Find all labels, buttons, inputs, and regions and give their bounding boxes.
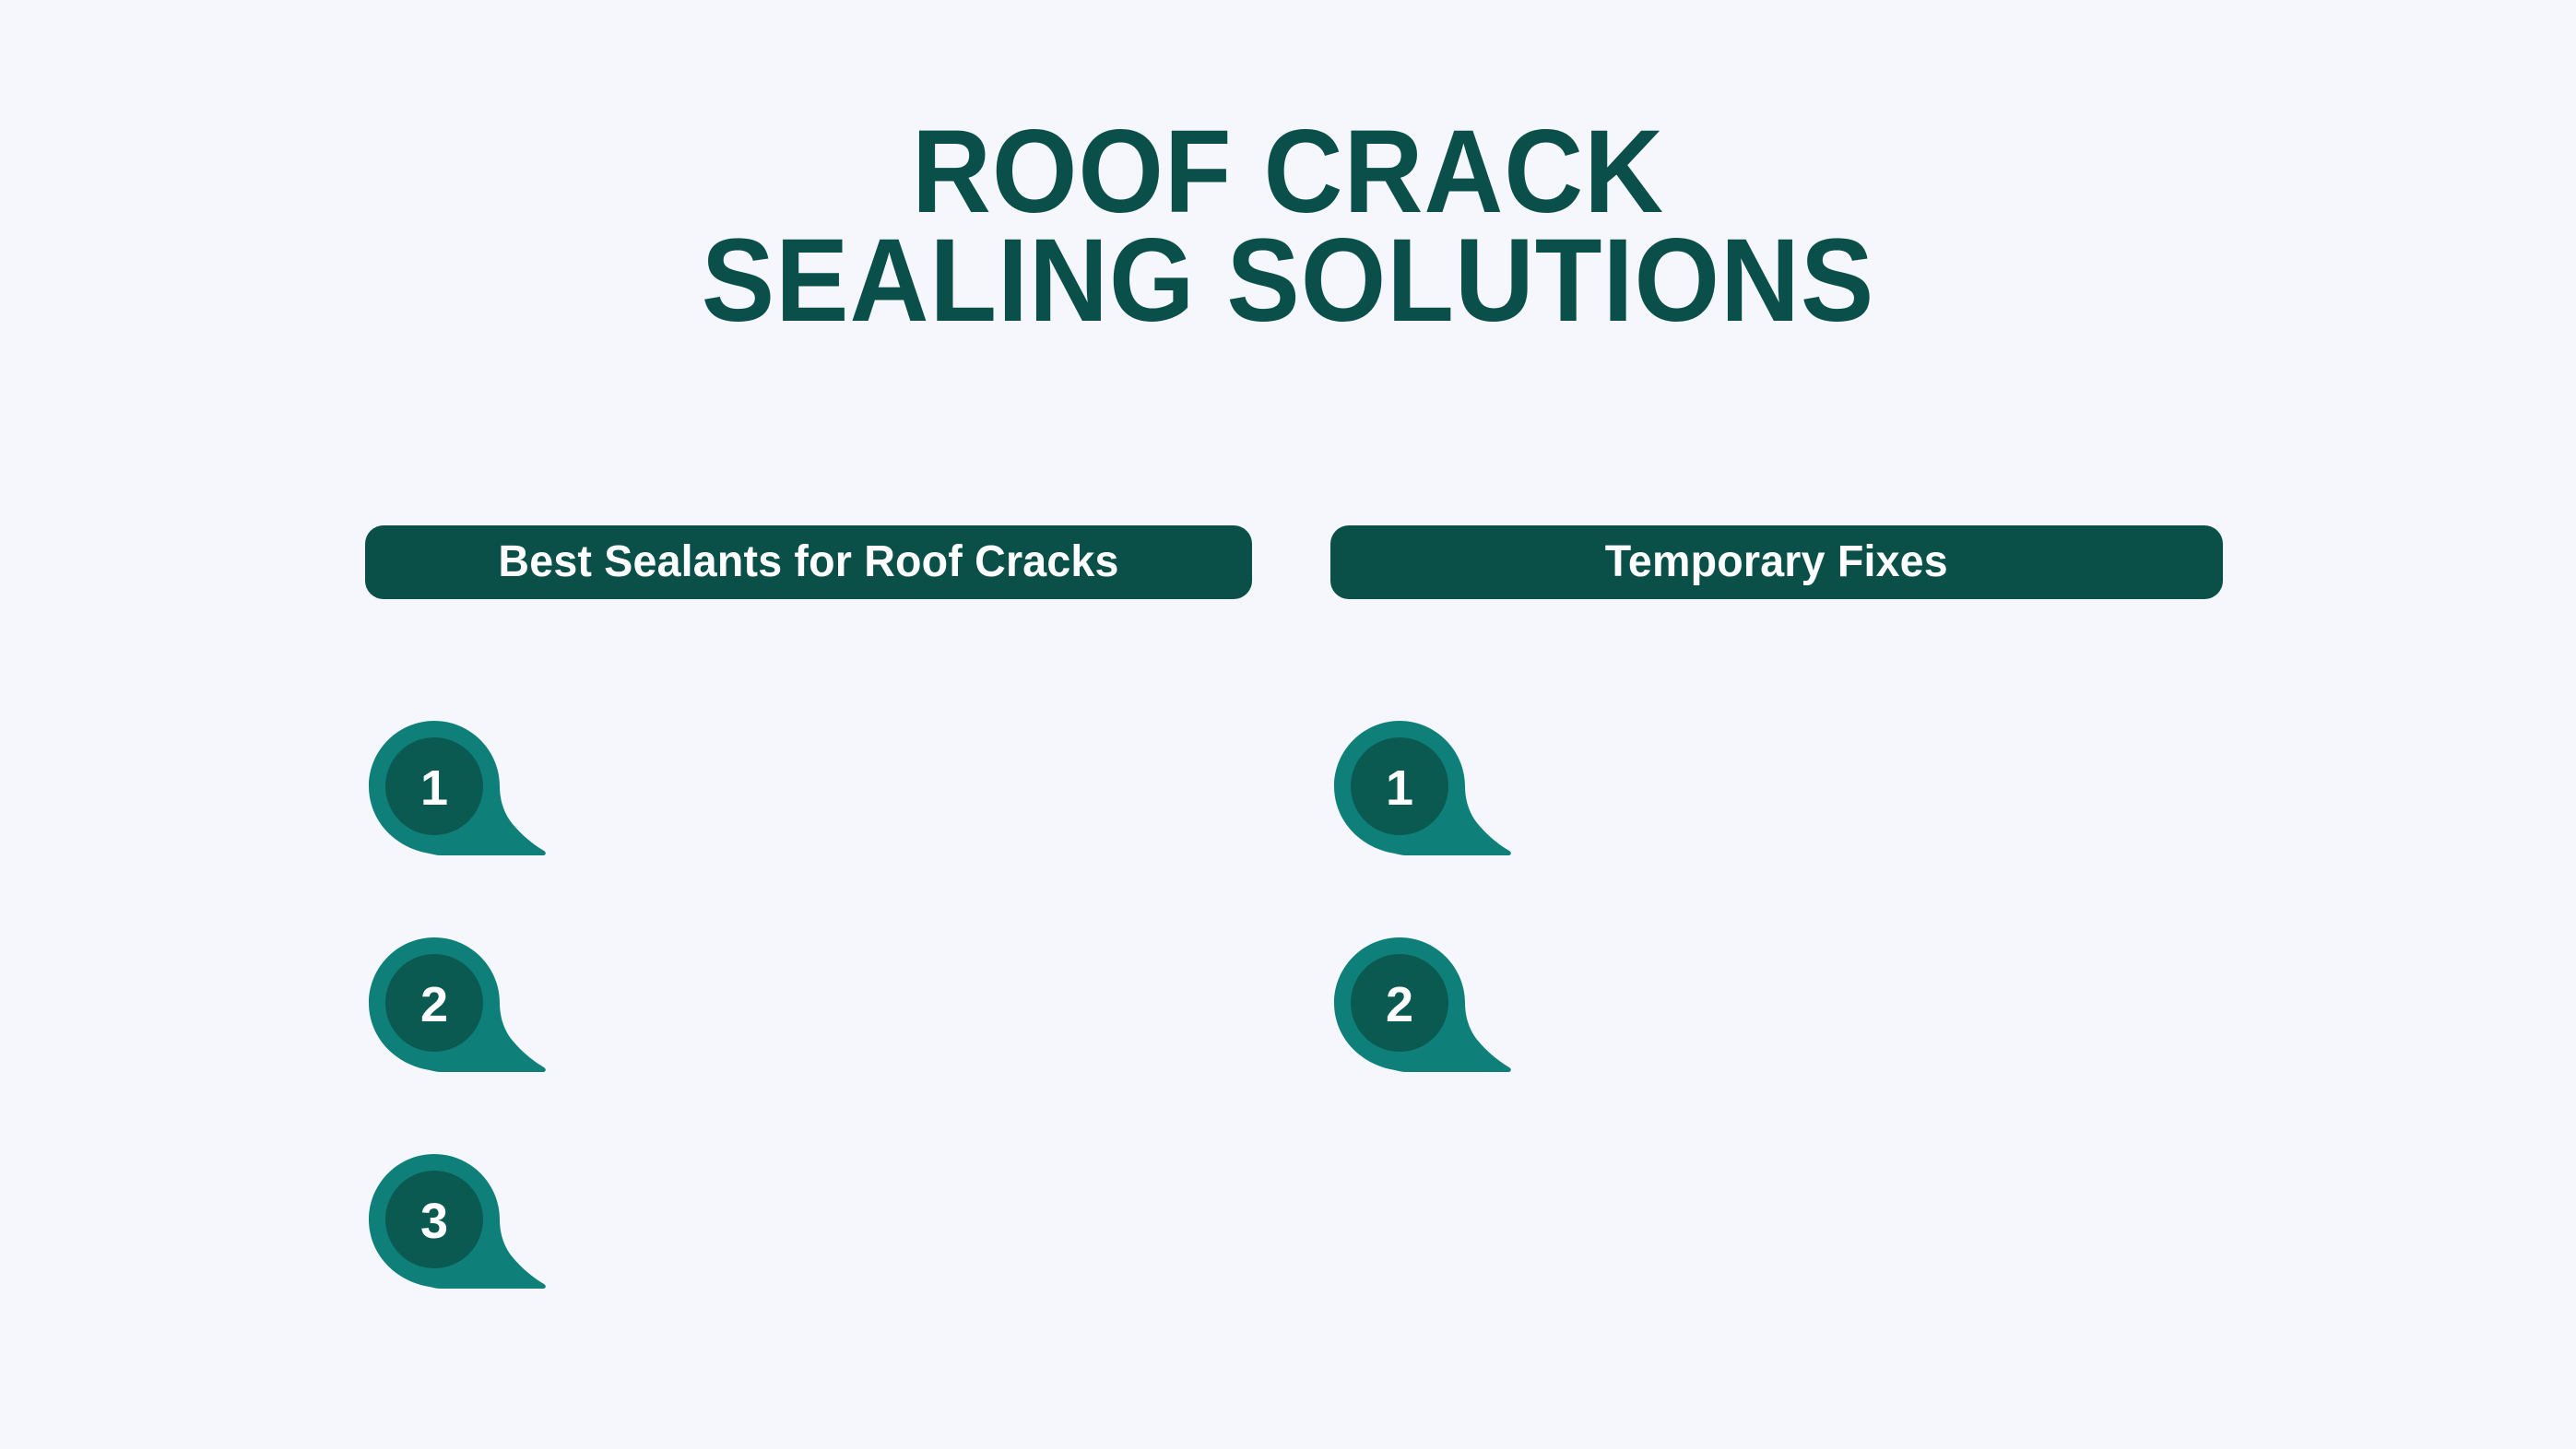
section-header-label: Best Sealants for Roof Cracks: [498, 538, 1118, 586]
item-row[interactable]: 3Silicone-Based: [365, 1152, 1252, 1290]
section-header-temporary-fixes[interactable]: Temporary Fixes: [1330, 525, 2223, 599]
item-pill[interactable]: Silicone-Based: [474, 1160, 1252, 1281]
column-temporary-fixes: Temporary Fixes 1Roof Cement/Silicone2Us…: [1330, 525, 2223, 599]
item-row[interactable]: 1Roof Cement/Silicone: [1330, 719, 2223, 857]
page-title: ROOF CRACK SEALING SOLUTIONS: [0, 118, 2576, 336]
infographic-page: { "title": { "line1": "ROOF CRACK", "lin…: [0, 0, 2576, 1449]
item-label: Roof Cement/Silicone: [1637, 762, 2098, 812]
section-header-best-sealants[interactable]: Best Sealants for Roof Cracks: [365, 525, 1252, 599]
item-label: Polyurea: [810, 762, 999, 812]
item-label: Use Flashing Tape: [1672, 979, 2064, 1029]
item-pill[interactable]: Polyurea: [474, 726, 1252, 848]
title-line-1: ROOF CRACK: [90, 118, 2486, 227]
item-label: Silicone-Based: [744, 1196, 1065, 1245]
section-header-label: Temporary Fixes: [1605, 538, 1948, 586]
item-row[interactable]: 2Use Flashing Tape: [1330, 936, 2223, 1074]
item-pill[interactable]: Epoxy Resin: [474, 943, 1252, 1065]
title-line-2: SEALING SOLUTIONS: [90, 227, 2486, 336]
item-pill[interactable]: Use Flashing Tape: [1439, 943, 2223, 1065]
item-row[interactable]: 1Polyurea: [365, 719, 1252, 857]
item-row[interactable]: 2Epoxy Resin: [365, 936, 1252, 1074]
item-pill[interactable]: Roof Cement/Silicone: [1439, 726, 2223, 848]
item-label: Epoxy Resin: [770, 979, 1038, 1029]
column-best-sealants: Best Sealants for Roof Cracks 1Polyurea2…: [365, 525, 1252, 599]
